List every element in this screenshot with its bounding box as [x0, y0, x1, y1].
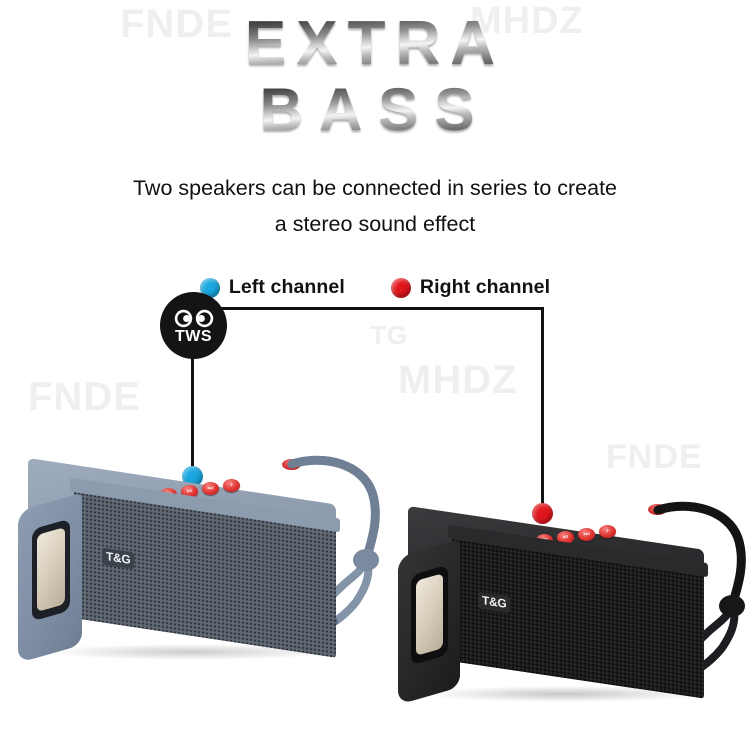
tws-badge: TWS [160, 292, 227, 359]
tws-dual-earbud-icon [174, 309, 214, 328]
speaker-left-button-next[interactable]: ⏭ [202, 482, 219, 495]
left-channel-label: Left channel [229, 276, 345, 299]
watermark-4: TG [370, 320, 408, 351]
speaker-right-button-volume-up[interactable]: + [599, 525, 616, 538]
headline-block: EXTRA BASS [0, 12, 750, 140]
speaker-left-channel: ⏻ ⏮ ⏯ ⏭ + T&G [18, 440, 398, 675]
watermark-5: FNDE [606, 438, 703, 477]
speaker-left-button-volume-up[interactable]: + [223, 479, 240, 492]
promo-canvas: FNDEMHDZFNDEMHDZTGFNDE EXTRA BASS Two sp… [0, 0, 750, 750]
subtitle-block: Two speakers can be connected in series … [0, 170, 750, 242]
speaker-left-passive-radiator [37, 527, 65, 612]
subtitle-line-1: Two speakers can be connected in series … [0, 170, 750, 206]
watermark-2: FNDE [28, 375, 141, 420]
watermark-3: MHDZ [398, 358, 518, 403]
speaker-left-shadow [48, 644, 334, 660]
headline-line-bass: BASS [0, 79, 750, 140]
speaker-right-button-next[interactable]: ⏭ [578, 528, 595, 541]
right-channel-label: Right channel [420, 276, 550, 299]
subtitle-line-2: a stereo sound effect [0, 206, 750, 242]
headline-line-extra: EXTRA [0, 12, 750, 75]
legend-item-left-channel: Left channel [200, 276, 345, 299]
right-channel-dot [391, 278, 411, 298]
connector-horizontal [213, 307, 544, 310]
speaker-right-channel: ⏻ ⏮ ⏯ ⏭ + T&G [398, 488, 750, 710]
speaker-right-passive-radiator [416, 573, 443, 656]
tws-badge-label: TWS [175, 329, 212, 345]
channel-legend: Left channel Right channel [0, 276, 750, 299]
speaker-right-shadow [426, 686, 702, 702]
legend-item-right-channel: Right channel [391, 276, 550, 299]
connector-vertical-right [541, 307, 544, 514]
